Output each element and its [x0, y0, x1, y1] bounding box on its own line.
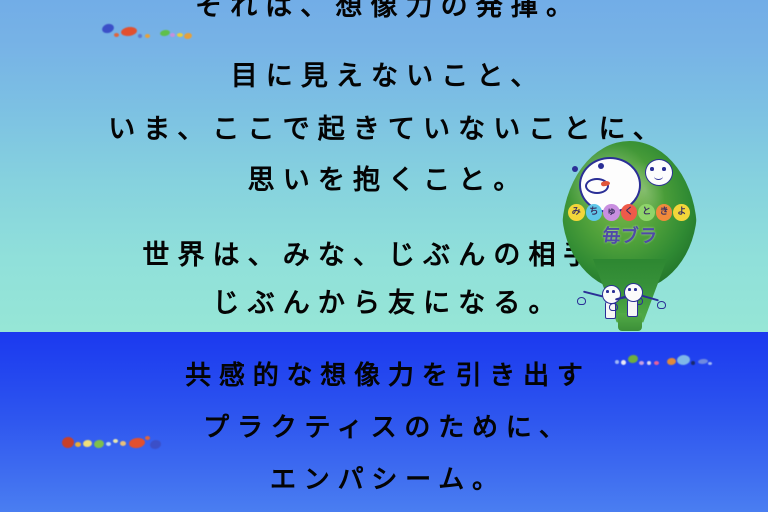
distant-balloons-bottom-left-mini-7: [128, 437, 145, 449]
crew-head-0: [602, 285, 621, 304]
distant-balloons-top-left: [98, 22, 194, 44]
distant-balloons-top-left-mini-5: [160, 29, 171, 37]
distant-balloons-bottom-right-mini-2: [627, 354, 638, 364]
bubble-letter-0: み: [568, 204, 585, 221]
distant-balloons-bottom-right-mini-1: [621, 360, 626, 365]
distant-balloons-top-left-mini-8: [183, 32, 192, 40]
crew-0-arm-0: [583, 291, 603, 298]
distant-balloons-top-left-mini-1: [114, 33, 119, 37]
distant-balloons-top-left-mini-4: [145, 34, 150, 38]
distant-balloons-bottom-right: [613, 352, 713, 372]
big-face-right-eye-icon: [598, 163, 604, 169]
balloon-subtitle-text: 毎ブラ: [557, 222, 703, 248]
distant-balloons-bottom-left-mini-9: [149, 439, 162, 450]
hot-air-balloon-illustration: みちゅくときよ 毎ブラ: [557, 141, 703, 331]
distant-balloons-bottom-right-mini-7: [677, 354, 691, 365]
poster-canvas: それは、想像力の発揮。 目に見えないこと、 いま、ここで起きていないことに、 思…: [0, 0, 768, 512]
distant-balloons-bottom-left-mini-0: [61, 436, 75, 449]
big-face-left-eye-icon: [572, 166, 578, 172]
crew-1-eye-1: [634, 288, 637, 291]
bubble-letter-1: ち: [586, 204, 603, 221]
distant-balloons-bottom-left-mini-4: [106, 442, 111, 446]
distant-balloons-bottom-right-mini-4: [647, 361, 651, 365]
bubble-letter-2: ゅ: [603, 204, 620, 221]
distant-balloons-bottom-left-mini-6: [120, 441, 126, 446]
crew-head-1: [624, 283, 643, 302]
sky-poem-line-2: 目に見えないこと、: [0, 54, 768, 93]
distant-balloons-bottom-right-mini-0: [615, 360, 619, 364]
crew-0-hand-0: [577, 297, 586, 305]
crew-0-eye-0: [606, 290, 609, 293]
balloon-bubble-letters: みちゅくときよ: [568, 202, 690, 222]
distant-balloons-bottom-left-mini-2: [83, 439, 93, 447]
bubble-letter-5: き: [656, 204, 673, 221]
bubble-letter-4: と: [638, 204, 655, 221]
crew-1-hand-1: [657, 301, 666, 309]
small-face-right-eye-icon: [662, 167, 666, 171]
distant-balloons-top-left-mini-2: [120, 26, 137, 37]
distant-balloons-bottom-right-mini-9: [698, 358, 708, 364]
bubble-letter-3: く: [621, 204, 638, 221]
distant-balloons-top-left-mini-7: [177, 33, 183, 37]
distant-balloons-top-left-mini-0: [101, 22, 115, 34]
crew-1-eye-0: [628, 288, 631, 291]
crew-0-eye-1: [612, 290, 615, 293]
distant-balloons-bottom-left-mini-8: [145, 436, 150, 440]
distant-balloons-bottom-left-mini-5: [113, 439, 118, 443]
distant-balloons-top-left-mini-6: [170, 33, 175, 37]
distant-balloons-bottom-left-mini-1: [75, 442, 81, 447]
distant-balloons-top-left-mini-3: [138, 34, 142, 38]
distant-balloons-bottom-right-mini-6: [667, 357, 677, 365]
sky-poem-line-1: それは、想像力の発揮。: [0, 0, 768, 23]
sea-poem-line-3: エンパシーム。: [0, 459, 768, 496]
crew-1-hand-0: [609, 303, 618, 311]
distant-balloons-bottom-left: [62, 432, 160, 454]
distant-balloons-bottom-right-mini-10: [708, 362, 712, 365]
small-face-left-eye-icon: [650, 167, 654, 171]
distant-balloons-bottom-right-mini-8: [691, 361, 695, 365]
distant-balloons-bottom-right-mini-5: [654, 361, 659, 365]
bubble-letter-6: よ: [673, 204, 690, 221]
distant-balloons-bottom-left-mini-3: [93, 439, 104, 449]
small-face-mouth-icon: [654, 173, 663, 180]
distant-balloons-bottom-right-mini-3: [639, 361, 644, 365]
